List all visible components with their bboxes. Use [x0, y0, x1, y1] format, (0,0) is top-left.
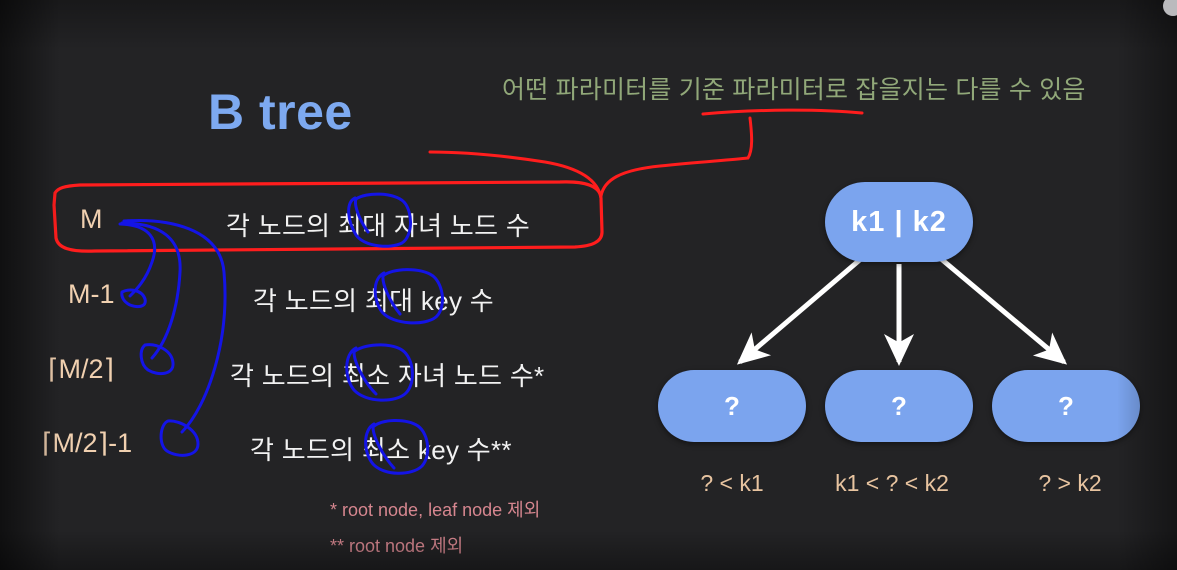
tree-child-label-1: k1 < ? < k2: [802, 470, 982, 497]
tree-node-child-0: ?: [658, 370, 806, 442]
param-row: ⌈M/2⌉ 각 노드의 최소 자녀 노드 수*: [0, 350, 620, 396]
param-row: M 각 노드의 최대 자녀 노드 수: [0, 200, 620, 246]
blue-arrow-curve-2: [124, 221, 225, 432]
param-desc-0: 각 노드의 최대 자녀 노드 수: [226, 206, 530, 243]
param-desc-1: 각 노드의 최대 key 수: [253, 281, 494, 318]
annotation-text: 어떤 파라미터를 기준 파라미터로 잡을지는 다를 수 있음: [502, 70, 1086, 106]
b-tree-diagram: k1 | k2 ? ? ? ? < k1 k1 < ? < k2 ? > k2: [640, 170, 1177, 530]
tree-edge-right: [940, 258, 1064, 362]
param-row: M-1 각 노드의 최대 key 수: [0, 275, 620, 321]
param-symbol-1: M-1: [68, 279, 115, 310]
param-symbol-0: M: [80, 204, 103, 235]
page-title: B tree: [208, 83, 353, 141]
param-symbol-3: ⌈M/2⌉-1: [42, 428, 132, 459]
slide-canvas: B tree 어떤 파라미터를 기준 파라미터로 잡을지는 다를 수 있음 M …: [0, 0, 1177, 570]
frame-edge-highlight: [1163, 0, 1177, 16]
tree-child-label-0: ? < k1: [642, 470, 822, 497]
tree-node-root: k1 | k2: [825, 182, 973, 262]
tree-child-label-2: ? > k2: [980, 470, 1160, 497]
param-symbol-2: ⌈M/2⌉: [48, 354, 114, 385]
tree-node-child-2: ?: [992, 370, 1140, 442]
tree-node-child-1: ?: [825, 370, 973, 442]
param-desc-2: 각 노드의 최소 자녀 노드 수*: [230, 356, 544, 393]
footnote-1: * root node, leaf node 제외: [330, 496, 540, 522]
red-connector-left: [430, 152, 601, 198]
tree-edge-left: [740, 258, 862, 362]
red-underline-annotation: [703, 110, 862, 114]
param-desc-3: 각 노드의 최소 key 수**: [250, 430, 512, 467]
param-row: ⌈M/2⌉-1 각 노드의 최소 key 수**: [0, 424, 620, 470]
footnote-2: ** root node 제외: [330, 532, 463, 558]
